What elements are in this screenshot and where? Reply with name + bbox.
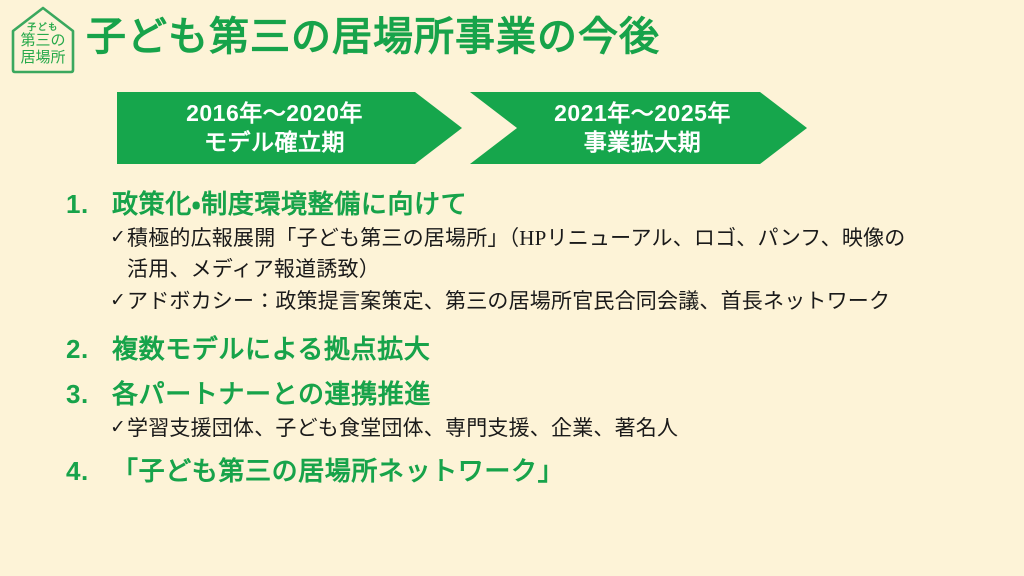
page-title: 子ども第三の居場所事業の今後 [86,13,660,61]
slide-canvas: 子ども 第三の 居場所 子ども第三の居場所事業の今後 2016年〜2020年 モ… [0,0,1024,576]
item-3-sublist: ✓ 学習支援団体、子ども食堂団体、専門支援、企業、著名人 [66,413,996,445]
item-3-number: 3. [66,376,112,413]
item-2-heading: 2. 複数モデルによる拠点拡大 [66,331,996,368]
item-4-heading: 4. 「子ども第三の居場所ネットワーク」 [66,453,996,490]
phase-1-label: モデル確立期 [204,128,345,157]
item-2-number: 2. [66,331,112,368]
sub-list-item: ✓ 学習支援団体、子ども食堂団体、専門支援、企業、著名人 [66,413,996,445]
item-1-number: 1. [66,186,112,223]
check-icon: ✓ [110,413,127,442]
sub-list-item: ✓ アドボカシー：政策提言案策定、第三の居場所官民合同会議、首長ネットワーク [66,286,996,318]
list-item: 1. 政策化・制度環境整備に向けて ✓ 積極的広報展開「子ども第三の居場所」（H… [66,186,996,317]
item-3-heading: 3. 各パートナーとの連携推進 [66,376,996,413]
item-4-number: 4. [66,453,112,490]
phase-2-period: 2021年〜2025年 [554,99,731,128]
item-1-heading: 1. 政策化・制度環境整備に向けて [66,186,996,223]
item-1-sub-1-text: 積極的広報展開「子ども第三の居場所」（HPリニューアル、ロゴ、パンフ、映像の活用… [127,223,917,286]
house-outline-icon [8,4,78,76]
list-item: 2. 複数モデルによる拠点拡大 [66,331,996,368]
item-1-title: 政策化・制度環境整備に向けて [112,186,996,223]
phase-chevron-2: 2021年〜2025年 事業拡大期 [470,92,807,164]
check-icon: ✓ [110,223,127,252]
content-list: 1. 政策化・制度環境整備に向けて ✓ 積極的広報展開「子ども第三の居場所」（H… [66,186,996,492]
phase-1-period: 2016年〜2020年 [186,99,363,128]
item-3-title: 各パートナーとの連携推進 [112,376,996,413]
item-1-sub-2-text: アドボカシー：政策提言案策定、第三の居場所官民合同会議、首長ネットワーク [127,286,917,318]
check-icon: ✓ [110,286,127,315]
item-3-sub-1-text: 学習支援団体、子ども食堂団体、専門支援、企業、著名人 [127,413,917,445]
item-1-sublist: ✓ 積極的広報展開「子ども第三の居場所」（HPリニューアル、ロゴ、パンフ、映像の… [66,223,996,318]
item-4-title: 「子ども第三の居場所ネットワーク」 [112,453,996,490]
phase-chevron-1: 2016年〜2020年 モデル確立期 [117,92,462,164]
item-2-title: 複数モデルによる拠点拡大 [112,331,996,368]
logo: 子ども 第三の 居場所 [8,4,78,76]
spacer [66,319,996,331]
sub-list-item: ✓ 積極的広報展開「子ども第三の居場所」（HPリニューアル、ロゴ、パンフ、映像の… [66,223,996,286]
slide-header: 子ども 第三の 居場所 子ども第三の居場所事業の今後 [0,0,1024,84]
list-item: 4. 「子ども第三の居場所ネットワーク」 [66,453,996,490]
phase-timeline: 2016年〜2020年 モデル確立期 2021年〜2025年 事業拡大期 [117,92,807,164]
list-item: 3. 各パートナーとの連携推進 ✓ 学習支援団体、子ども食堂団体、専門支援、企業… [66,376,996,444]
phase-2-label: 事業拡大期 [584,128,702,157]
